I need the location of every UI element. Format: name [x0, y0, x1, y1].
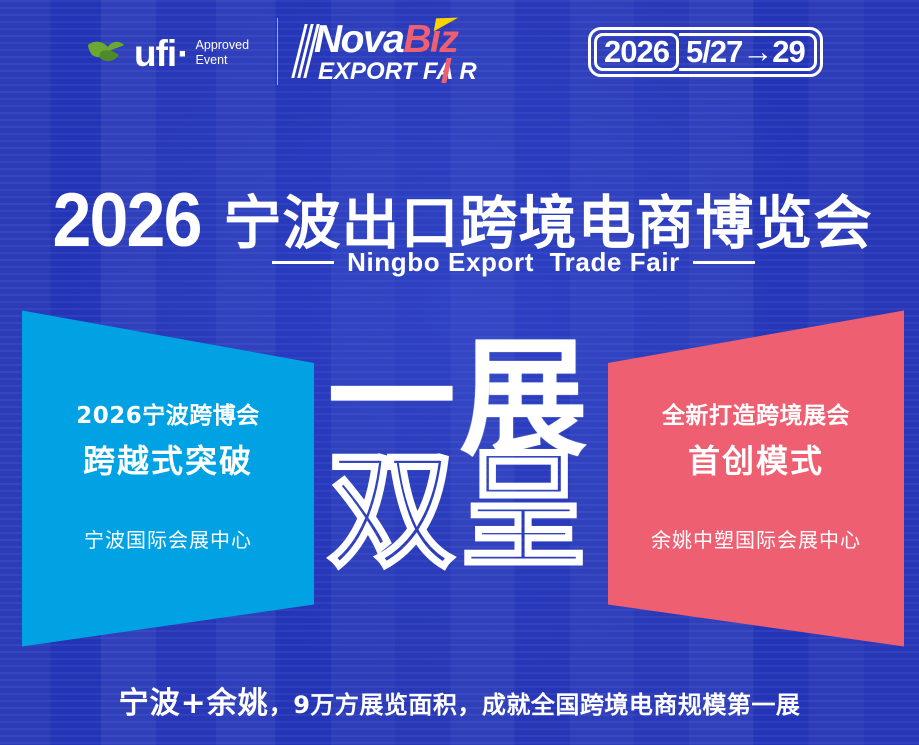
ufi-approved-line1: Approved	[196, 38, 250, 52]
slogan-line-outline: 双呈	[327, 448, 591, 576]
date-badge-range: 5/27→29	[679, 33, 817, 71]
venue-panel-ningbo: 2026宁波跨博会 跨越式突破 宁波国际会展中心	[22, 300, 314, 650]
slogan-line-solid: 一展	[327, 336, 591, 464]
venue-panel-ningbo-line2: 跨越式突破	[83, 436, 253, 482]
ufi-logo: ufi · Approved Event	[86, 28, 249, 74]
novabiz-nova-text: Nova	[314, 18, 403, 61]
venue-panel-ningbo-content: 2026宁波跨博会 跨越式突破 宁波国际会展中心	[22, 396, 314, 553]
header-bar: ufi · Approved Event NovaBiz EXPORT FA R…	[0, 0, 919, 104]
venue-panel-yuyao-line2: 首创模式	[688, 436, 824, 482]
venue-panel-ningbo-venue: 宁波国际会展中心	[84, 524, 252, 553]
venue-panel-yuyao-line1: 全新打造跨境展会	[662, 396, 850, 430]
poster-banner: ufi · Approved Event NovaBiz EXPORT FA R…	[0, 0, 919, 745]
title-year: 2026	[53, 188, 201, 253]
ufi-approved-line2: Event	[196, 53, 228, 67]
footer-tagline-strong: 宁波+余姚	[119, 678, 269, 722]
venue-panel-yuyao: 全新打造跨境展会 首创模式 余姚中塑国际会展中心	[608, 300, 904, 650]
ufi-dot: ·	[177, 33, 189, 75]
venue-panel-yuyao-venue: 余姚中塑国际会展中心	[651, 524, 861, 553]
page-subtitle: Ningbo Export Trade Fair	[0, 247, 919, 278]
date-badge: 2026 5/27→29	[588, 27, 823, 77]
page-title: 2026 宁波出口跨境电商博览会	[0, 186, 919, 251]
date-badge-year: 2026	[594, 33, 679, 71]
title-chinese: 宁波出口跨境电商博览会	[224, 196, 873, 251]
footer-tagline: 宁波+余姚 ，9万方展览面积，成就全国跨境电商规模第一展	[0, 678, 919, 722]
subtitle-rule-left	[272, 261, 334, 264]
novabiz-spark-icon	[434, 18, 458, 32]
novabiz-subline: EXPORT FA R	[318, 58, 477, 86]
ufi-wordmark: ufi	[134, 37, 176, 70]
subtitle-rule-right	[693, 261, 755, 264]
subtitle-english: Ningbo Export Trade Fair	[347, 247, 680, 278]
venue-panel-ningbo-line1: 2026宁波跨博会	[76, 396, 260, 430]
header-divider	[277, 18, 278, 85]
ufi-leaf-icon	[86, 36, 132, 66]
venue-panel-yuyao-content: 全新打造跨境展会 首创模式 余姚中塑国际会展中心	[608, 396, 904, 553]
footer-tagline-rest: ，9万方展览面积，成就全国跨境电商规模第一展	[269, 685, 801, 720]
novabiz-b-text: B	[403, 18, 430, 61]
ufi-approved-event-text: Approved Event	[196, 38, 250, 68]
novabiz-logo: NovaBiz EXPORT FA R	[298, 22, 488, 84]
